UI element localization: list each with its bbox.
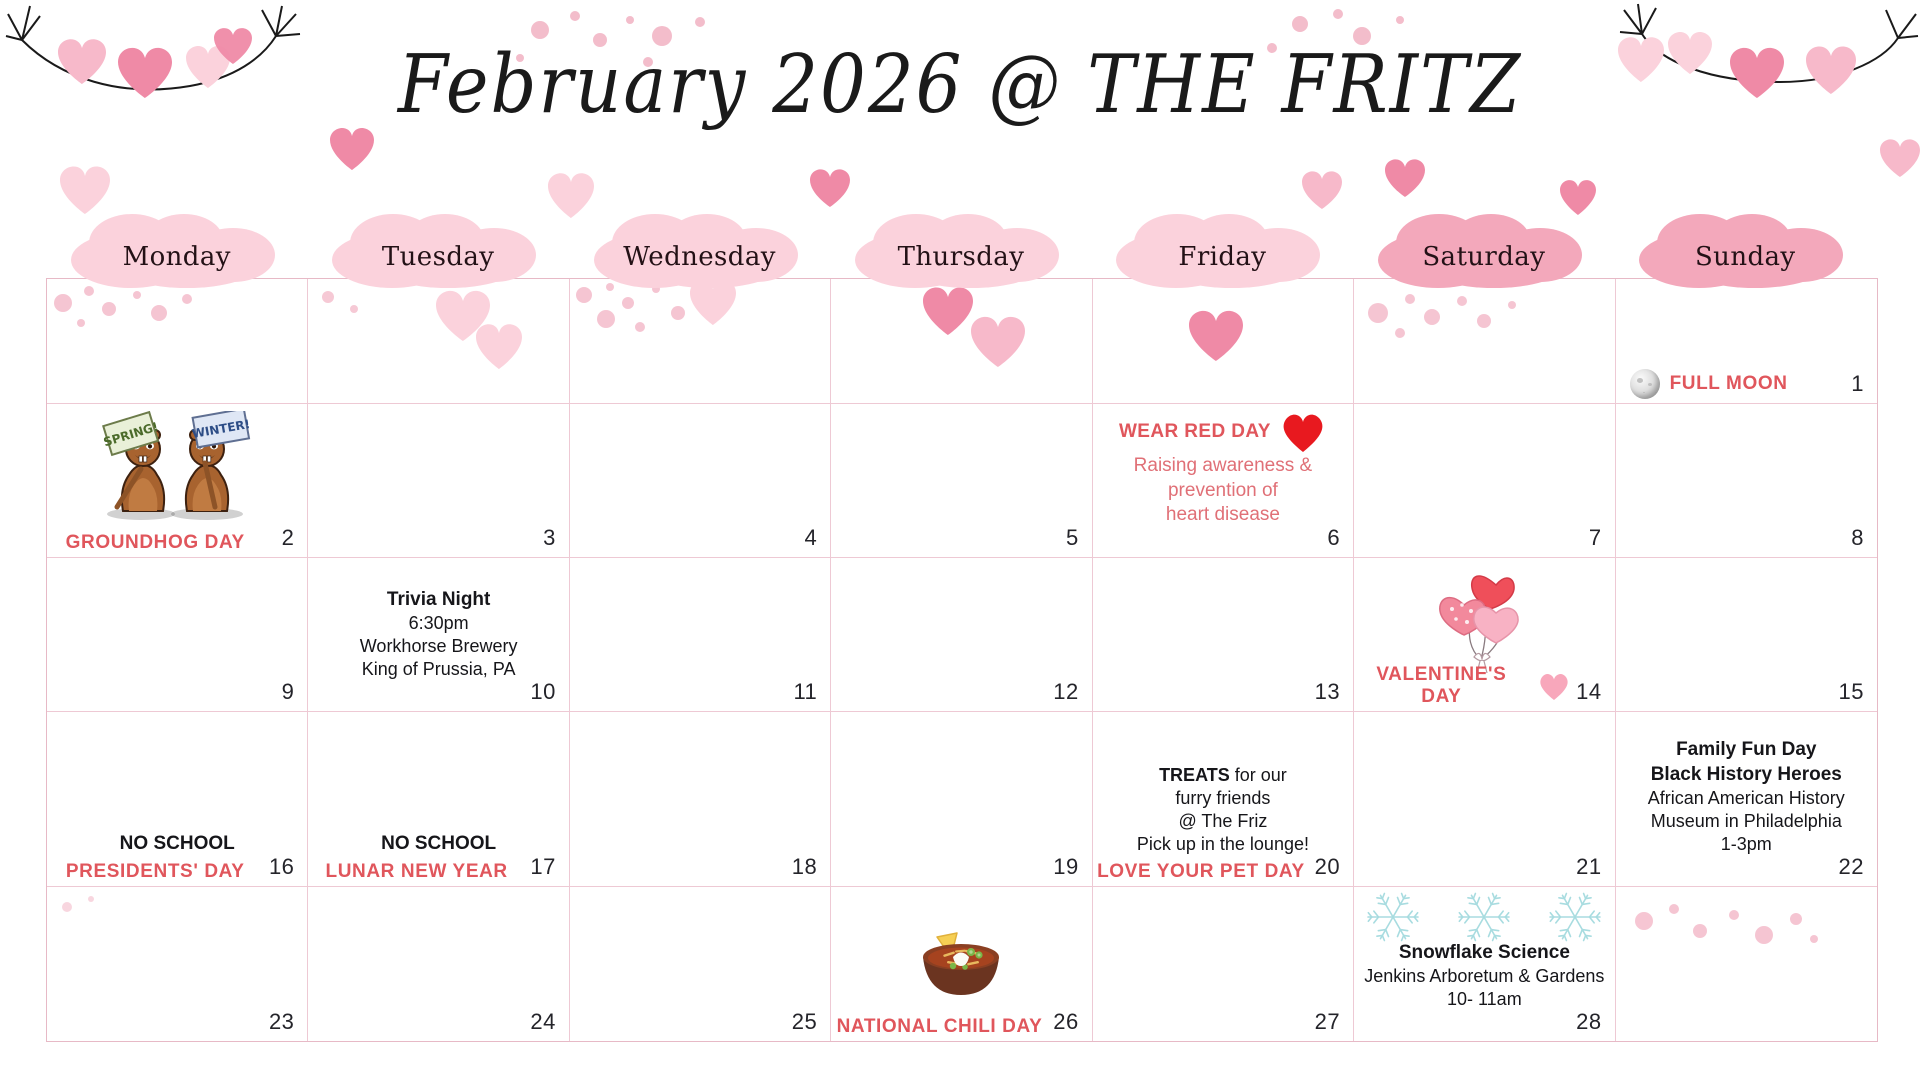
event-detail-line: Jenkins Arboretum & Gardens — [1362, 965, 1606, 988]
event-content: TREATS for ourfurry friends@ The FrizPic… — [1101, 764, 1345, 856]
calendar-day-cell-9[interactable]: 9 — [47, 558, 308, 712]
calendar-day-cell-27[interactable]: 27 — [1093, 887, 1354, 1041]
event-banner: GROUNDHOG DAY — [47, 532, 307, 554]
event-title: NO SCHOOL — [316, 832, 560, 856]
calendar-day-cell-11[interactable]: 11 — [570, 558, 831, 712]
snowflakes-illustration — [1359, 889, 1609, 947]
day-number: 28 — [1576, 1009, 1601, 1035]
calendar-day-cell-6[interactable]: WEAR RED DAYRaising awareness &preventio… — [1093, 404, 1354, 558]
weekday-header-wednesday: Wednesday — [569, 212, 830, 282]
weekday-header-sunday: Sunday — [1615, 212, 1876, 282]
decorative-hearts — [47, 887, 247, 972]
calendar-day-cell-8[interactable]: 8 — [1616, 404, 1877, 558]
decorative-hearts — [831, 279, 1061, 394]
weekday-label: Monday — [123, 242, 231, 282]
day-number: 20 — [1315, 854, 1340, 880]
calendar-empty-cell[interactable] — [831, 279, 1092, 404]
event-content: Snowflake ScienceJenkins Arboretum & Gar… — [1362, 941, 1606, 1011]
day-number: 23 — [269, 1009, 294, 1035]
calendar-day-cell-16[interactable]: NO SCHOOLPRESIDENTS' DAY16 — [47, 712, 308, 887]
calendar-day-cell-26[interactable]: NATIONAL CHILI DAY26 — [831, 887, 1092, 1041]
calendar-day-cell-19[interactable]: 19 — [831, 712, 1092, 887]
event-title: Family Fun Day — [1624, 738, 1869, 762]
weekday-label: Wednesday — [623, 242, 776, 282]
event-title: Snowflake Science — [1362, 941, 1606, 965]
day-number: 24 — [530, 1009, 555, 1035]
event-illustration — [1359, 889, 1609, 947]
weekday-label: Friday — [1178, 242, 1266, 282]
event-headline: WEAR RED DAY — [1119, 420, 1271, 444]
full-moon-row: FULL MOON — [1630, 369, 1788, 399]
decorative-hearts — [1354, 279, 1584, 394]
event-illustration — [913, 921, 1009, 1007]
day-number: 13 — [1315, 679, 1340, 705]
event-label: PRESIDENTS' DAY — [66, 861, 245, 882]
weekday-header-row: MondayTuesdayWednesdayThursdayFridaySatu… — [46, 212, 1876, 282]
calendar-day-cell-2[interactable]: SPRING!WINTER!GROUNDHOG DAY2 — [47, 404, 308, 558]
event-detail-line: African American History — [1624, 787, 1869, 810]
pink-heart-icon — [1537, 671, 1571, 701]
event-title: NO SCHOOL — [55, 832, 299, 856]
event-illustration: SPRING!WINTER! — [83, 411, 271, 523]
day-number: 4 — [805, 525, 818, 551]
event-content: NO SCHOOL — [316, 832, 560, 856]
event-label: VALENTINE'S DAY — [1354, 664, 1528, 708]
event-rich-line: TREATS for our — [1101, 764, 1345, 787]
calendar-empty-cell[interactable] — [570, 279, 831, 404]
day-number: 11 — [793, 679, 817, 705]
calendar-day-cell-21[interactable]: 21 — [1354, 712, 1615, 887]
heart-balloons-illustration — [1424, 569, 1544, 677]
event-label: NATIONAL CHILI DAY — [837, 1016, 1043, 1037]
day-number: 10 — [530, 679, 555, 705]
day-number: 14 — [1576, 679, 1601, 705]
day-number: 21 — [1576, 854, 1601, 880]
calendar-day-cell-3[interactable]: 3 — [308, 404, 569, 558]
calendar-day-cell-4[interactable]: 4 — [570, 404, 831, 558]
event-label: LOVE YOUR PET DAY — [1097, 861, 1305, 882]
day-number: 9 — [282, 679, 295, 705]
day-number: 1 — [1851, 371, 1864, 397]
day-number: 8 — [1851, 525, 1864, 551]
event-rich-bold: TREATS — [1159, 765, 1230, 785]
event-content: Family Fun DayBlack History HeroesAfrica… — [1624, 738, 1869, 856]
day-number: 12 — [1053, 679, 1078, 705]
event-detail-line: Museum in Philadelphia — [1624, 810, 1869, 833]
calendar-empty-cell[interactable] — [47, 279, 308, 404]
red-heart-icon — [1279, 410, 1327, 454]
day-number: 18 — [792, 854, 817, 880]
event-detail-line: furry friends — [1101, 787, 1345, 810]
day-number: 15 — [1839, 679, 1864, 705]
decorative-hearts — [1616, 887, 1846, 1002]
calendar-day-cell-1[interactable]: FULL MOON1 — [1616, 279, 1877, 404]
decorative-hearts — [47, 279, 267, 394]
event-detail-line: heart disease — [1101, 503, 1345, 527]
weekday-label: Thursday — [898, 242, 1025, 282]
decorative-hearts — [570, 279, 800, 394]
weekday-header-friday: Friday — [1092, 212, 1353, 282]
event-detail-line: 10- 11am — [1362, 988, 1606, 1011]
calendar-title-bar: February 2026 @ THE FRITZ — [0, 48, 1920, 120]
calendar-empty-cell[interactable] — [1616, 887, 1877, 1041]
event-title: Trivia Night — [316, 588, 560, 612]
event-detail-line: Workhorse Brewery — [316, 635, 560, 658]
page-title: February 2026 @ THE FRITZ — [0, 44, 1920, 125]
event-content: NO SCHOOL — [55, 832, 299, 856]
full-moon-icon — [1630, 369, 1660, 399]
day-number: 26 — [1053, 1009, 1078, 1035]
calendar-day-cell-28[interactable]: Snowflake ScienceJenkins Arboretum & Gar… — [1354, 887, 1615, 1041]
decorative-hearts — [308, 279, 538, 404]
calendar-day-cell-25[interactable]: 25 — [570, 887, 831, 1041]
day-number: 27 — [1315, 1009, 1340, 1035]
event-detail-line: prevention of — [1101, 479, 1345, 503]
decorative-hearts — [1093, 279, 1323, 394]
day-number: 22 — [1839, 854, 1864, 880]
calendar-day-cell-20[interactable]: TREATS for ourfurry friends@ The FrizPic… — [1093, 712, 1354, 887]
day-number: 17 — [530, 854, 555, 880]
calendar-day-cell-23[interactable]: 23 — [47, 887, 308, 1041]
calendar-day-cell-17[interactable]: NO SCHOOLLUNAR NEW YEAR17 — [308, 712, 569, 887]
calendar-day-cell-10[interactable]: Trivia Night6:30pmWorkhorse BreweryKing … — [308, 558, 569, 712]
event-content: Trivia Night6:30pmWorkhorse BreweryKing … — [316, 588, 560, 681]
calendar-day-cell-24[interactable]: 24 — [308, 887, 569, 1041]
calendar-grid: FULL MOON1SPRING!WINTER!GROUNDHOG DAY234… — [46, 278, 1878, 1042]
calendar-day-cell-7[interactable]: 7 — [1354, 404, 1615, 558]
weekday-label: Tuesday — [382, 242, 494, 282]
event-detail-line: @ The Friz — [1101, 810, 1345, 833]
weekday-header-saturday: Saturday — [1353, 212, 1614, 282]
event-label: FULL MOON — [1670, 373, 1788, 395]
day-number: 2 — [282, 525, 295, 551]
event-content: WEAR RED DAYRaising awareness &preventio… — [1101, 410, 1345, 527]
calendar-empty-cell[interactable] — [1093, 279, 1354, 404]
event-detail-line: 6:30pm — [316, 612, 560, 635]
event-detail-line: King of Prussia, PA — [316, 658, 560, 681]
day-number: 25 — [792, 1009, 817, 1035]
calendar-day-cell-18[interactable]: 18 — [570, 712, 831, 887]
event-detail-line: Pick up in the lounge! — [1101, 833, 1345, 856]
weekday-header-thursday: Thursday — [830, 212, 1091, 282]
event-detail-line: 1-3pm — [1624, 833, 1869, 856]
day-number: 6 — [1327, 525, 1340, 551]
event-rich-rest: for our — [1230, 765, 1287, 785]
weekday-label: Sunday — [1695, 242, 1796, 282]
event-label: GROUNDHOG DAY — [66, 532, 245, 553]
calendar-day-cell-5[interactable]: 5 — [831, 404, 1092, 558]
weekday-header-monday: Monday — [46, 212, 307, 282]
calendar-day-cell-14[interactable]: VALENTINE'S DAY14 — [1354, 558, 1615, 712]
calendar-day-cell-12[interactable]: 12 — [831, 558, 1092, 712]
weekday-header-tuesday: Tuesday — [307, 212, 568, 282]
calendar-day-cell-15[interactable]: 15 — [1616, 558, 1877, 712]
day-number: 7 — [1589, 525, 1602, 551]
event-label: LUNAR NEW YEAR — [326, 861, 508, 882]
calendar-empty-cell[interactable] — [308, 279, 569, 404]
day-number: 19 — [1053, 854, 1078, 880]
calendar-day-cell-13[interactable]: 13 — [1093, 558, 1354, 712]
event-illustration — [1424, 569, 1544, 677]
event-subtitle: Black History Heroes — [1624, 763, 1869, 787]
chili-bowl-illustration — [913, 921, 1009, 1007]
day-number: 16 — [269, 854, 294, 880]
weekday-label: Saturday — [1422, 242, 1545, 282]
event-detail-line: Raising awareness & — [1101, 454, 1345, 478]
day-number: 5 — [1066, 525, 1079, 551]
calendar-day-cell-22[interactable]: Family Fun DayBlack History HeroesAfrica… — [1616, 712, 1877, 887]
day-number: 3 — [543, 525, 556, 551]
calendar-empty-cell[interactable] — [1354, 279, 1615, 404]
groundhogs-illustration: SPRING!WINTER! — [83, 411, 271, 523]
